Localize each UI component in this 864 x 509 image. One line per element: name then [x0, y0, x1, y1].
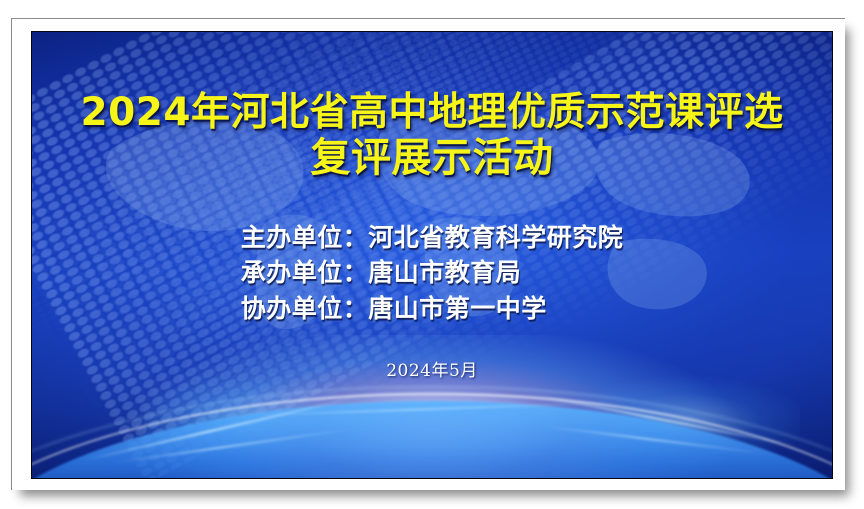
slide-content: 2024年河北省高中地理优质示范课评选 复评展示活动 主办单位：河北省教育科学研… — [32, 32, 832, 478]
slide-date: 2024年5月 — [386, 356, 478, 381]
organizer-undertaker: 承办单位：唐山市教育局 — [241, 255, 624, 291]
organizer-list: 主办单位：河北省教育科学研究院 承办单位：唐山市教育局 协办单位：唐山市第一中学 — [241, 220, 624, 327]
title-line-2: 复评展示活动 — [80, 137, 783, 179]
title-line-1: 2024年河北省高中地理优质示范课评选 — [80, 92, 783, 133]
screenshot-root: 2024年河北省高中地理优质示范课评选 复评展示活动 主办单位：河北省教育科学研… — [0, 0, 864, 509]
organizer-co-host: 协办单位：唐山市第一中学 — [241, 291, 624, 327]
organizer-host: 主办单位：河北省教育科学研究院 — [241, 220, 624, 256]
slide-title: 2024年河北省高中地理优质示范课评选 复评展示活动 — [80, 92, 783, 180]
presentation-slide[interactable]: 2024年河北省高中地理优质示范课评选 复评展示活动 主办单位：河北省教育科学研… — [31, 31, 833, 479]
